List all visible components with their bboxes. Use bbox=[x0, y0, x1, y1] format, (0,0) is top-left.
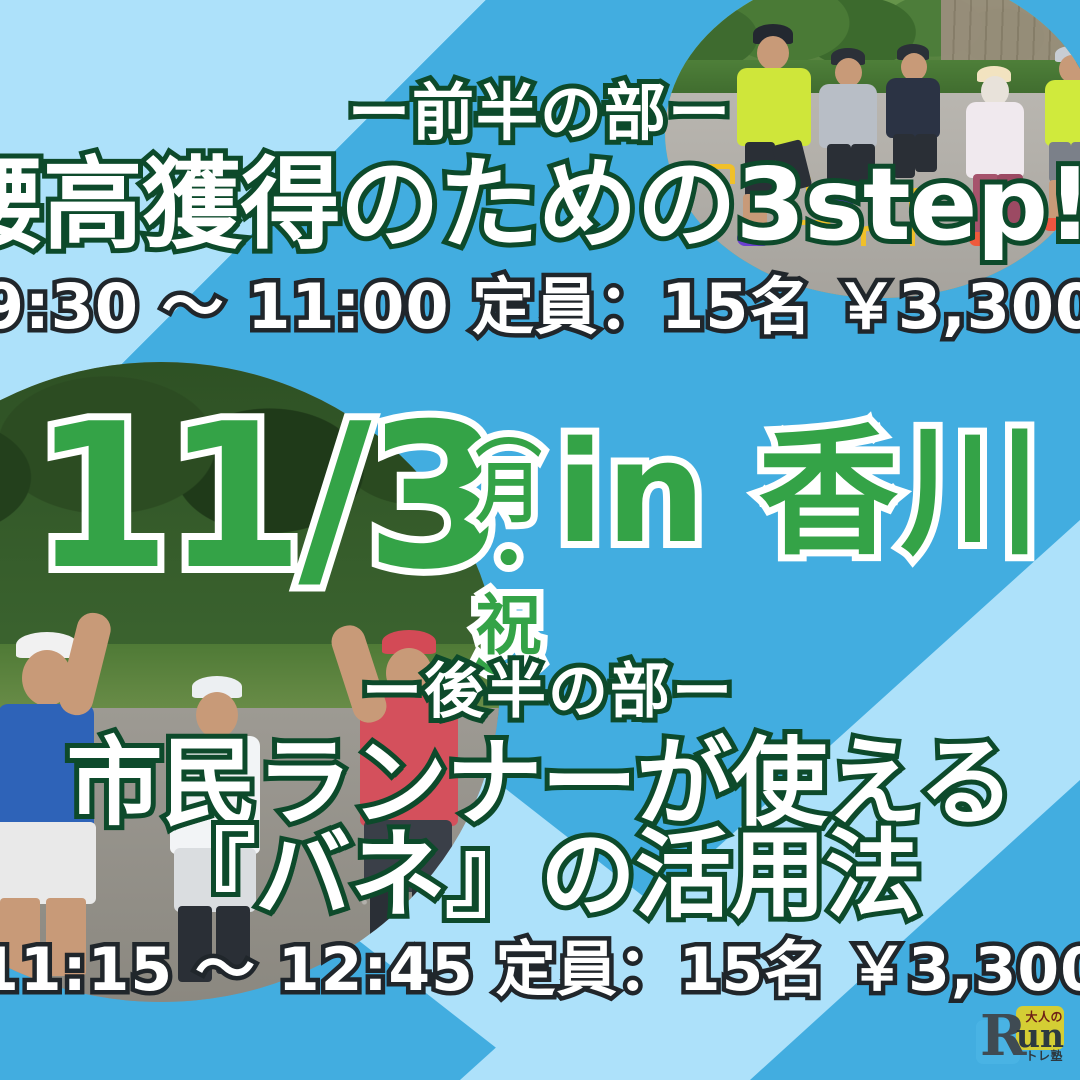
second-session-title-line1: 市民ランナーが使える bbox=[66, 735, 1013, 831]
event-date: 11/3 bbox=[32, 398, 499, 598]
first-session-title: 腰高獲得のための3step!! bbox=[0, 155, 1080, 255]
second-session-title-line2: 『バネ』の活用法 bbox=[160, 827, 920, 923]
second-session-label: ー後半の部ー bbox=[362, 662, 734, 722]
logo-top-text: 大人の bbox=[1025, 1008, 1063, 1025]
brand-logo: R un 大人の トレ塾 bbox=[974, 1006, 1066, 1066]
event-poster: ー前半の部ー 腰高獲得のための3step!! 9:30 〜 11:00 定員：1… bbox=[0, 0, 1080, 1080]
first-session-label: ー前半の部ー bbox=[348, 82, 732, 144]
second-session-time-details: 11:15 〜 12:45 定員：15名 ￥3,300 bbox=[0, 940, 1080, 1000]
first-session-time-details: 9:30 〜 11:00 定員：15名 ￥3,300 bbox=[0, 276, 1080, 338]
event-place: in 香川 bbox=[556, 424, 1042, 564]
logo-bottom-text: トレ塾 bbox=[1025, 1047, 1063, 1064]
